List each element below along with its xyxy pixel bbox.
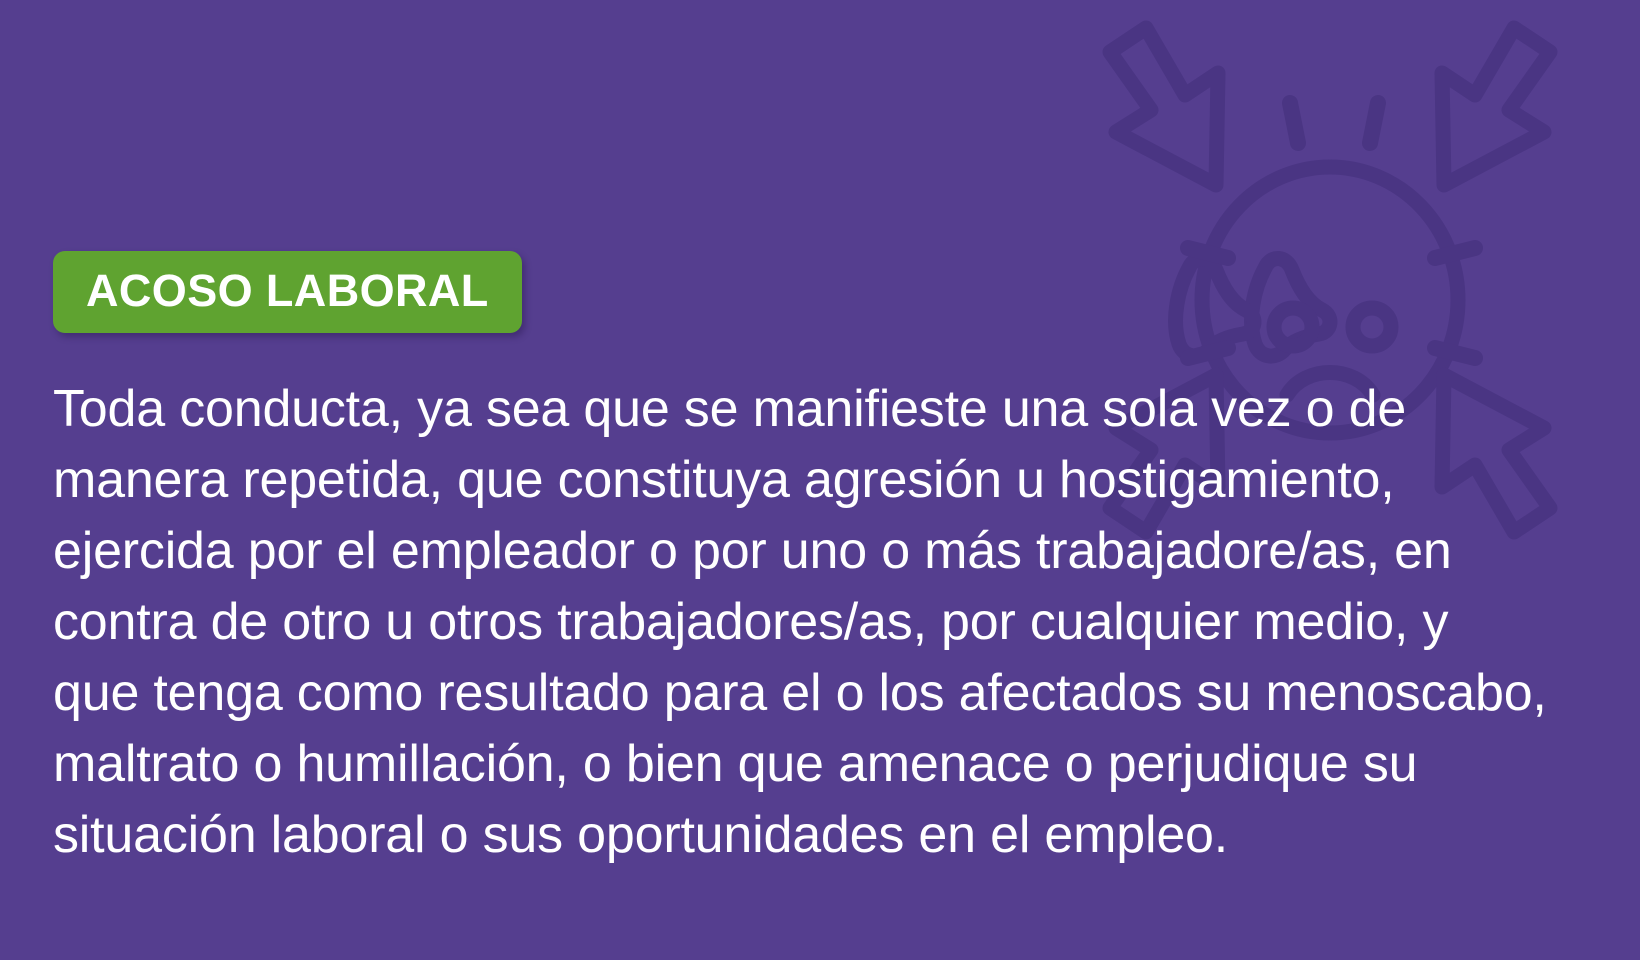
paragraph-line: que tenga como resultado para el o los a… [53, 658, 1553, 729]
acoso-laboral-card: ACOSO LABORAL Toda conducta, ya sea que … [0, 0, 1640, 960]
arrow-top-left [1110, 28, 1218, 185]
right-eye [1176, 258, 1254, 356]
paragraph-line: Toda conducta, ya sea que se manifieste … [53, 374, 1553, 445]
paragraph-line: situación laboral o sus oportunidades en… [53, 800, 1553, 871]
dash-left-lower [1188, 348, 1228, 358]
arrow-top-right [1442, 28, 1550, 185]
paragraph-line: ejercida por el empleador o por uno o má… [53, 516, 1553, 587]
paragraph-line: manera repetida, que constituya agresión… [53, 445, 1553, 516]
dash-right-upper [1435, 248, 1475, 258]
paragraph-line: maltrato o humillación, o bien que amena… [53, 729, 1553, 800]
dash-left-upper [1188, 248, 1228, 258]
dash-top-left [1290, 103, 1298, 143]
left-pupil [1274, 308, 1312, 346]
left-eye [1252, 258, 1330, 356]
dash-top-right [1370, 103, 1378, 143]
definition-paragraph: Toda conducta, ya sea que se manifieste … [53, 374, 1553, 871]
impact-dashes [1188, 103, 1475, 358]
paragraph-line: contra de otro u otros trabajadores/as, … [53, 587, 1553, 658]
dash-right-lower [1435, 348, 1475, 358]
right-pupil [1353, 308, 1391, 346]
badge-label: ACOSO LABORAL [86, 268, 489, 313]
acoso-laboral-badge: ACOSO LABORAL [53, 251, 522, 333]
